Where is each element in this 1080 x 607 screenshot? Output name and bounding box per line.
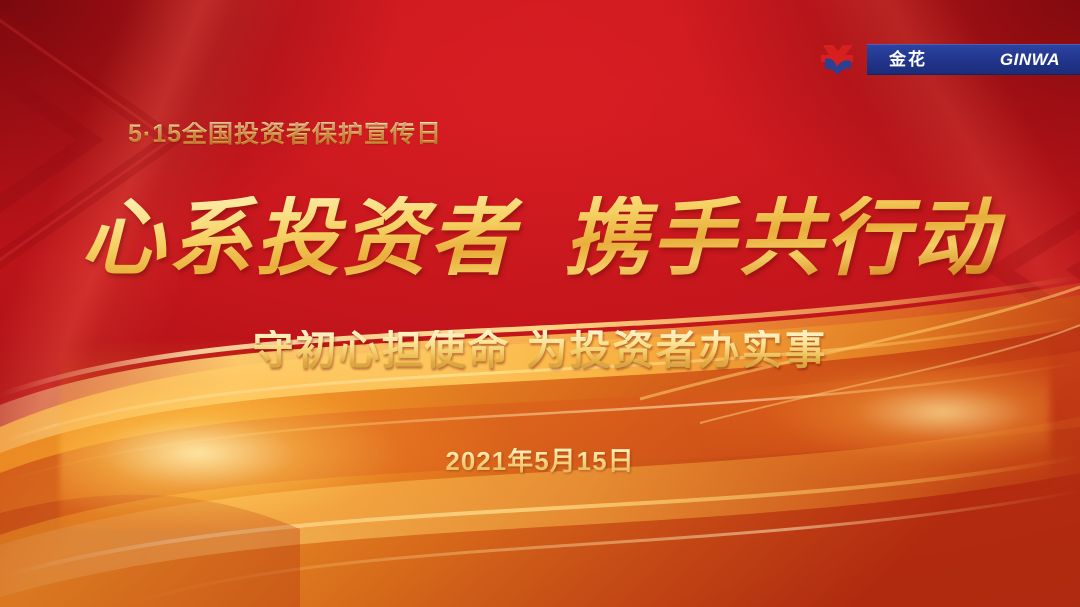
subtitle-part-2: 为投资者办实事 <box>527 327 828 373</box>
subtitle-part-1: 守初心担使命 <box>253 327 511 373</box>
brand-name-en: GINWA <box>1000 51 1060 68</box>
page-title: 心系投资者携手共行动 <box>0 196 1080 280</box>
investor-protection-poster: 金花 GINWA 5·15全国投资者保护宣传日 心系投资者携手共行动 守初心担使… <box>0 0 1080 607</box>
ginwa-logo-mark-icon <box>813 41 859 77</box>
brand-name-cn: 金花 <box>889 51 927 68</box>
event-date: 2021年5月15日 <box>0 448 1080 474</box>
headline-part-2: 携手共行动 <box>564 188 999 287</box>
brand-logo[interactable]: 金花 GINWA <box>813 41 1080 77</box>
headline-part-1: 心系投资者 <box>81 188 516 287</box>
brand-name-bar: 金花 GINWA <box>867 44 1080 75</box>
page-subtitle: 守初心担使命为投资者办实事 <box>0 330 1080 371</box>
campaign-eyebrow: 5·15全国投资者保护宣传日 <box>128 122 442 147</box>
